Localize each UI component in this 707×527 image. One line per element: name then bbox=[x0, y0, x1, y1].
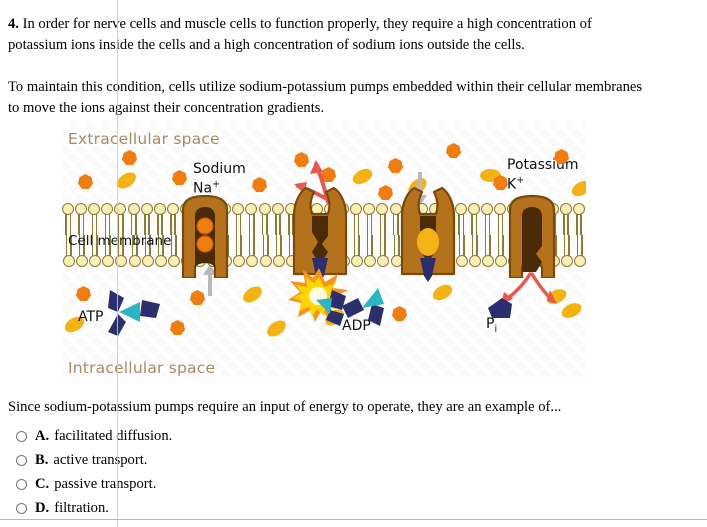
sodium-charge: + bbox=[212, 179, 220, 190]
pump-protein-3 bbox=[398, 186, 458, 282]
adp-label: ADP bbox=[342, 318, 371, 334]
lipid-tail bbox=[472, 235, 474, 256]
lipid-tail bbox=[240, 214, 242, 235]
lipid-tail bbox=[371, 214, 373, 235]
figure-content: Extracellular space Intracellular space … bbox=[62, 122, 586, 380]
lipid-head bbox=[115, 255, 127, 267]
lipid-tail bbox=[253, 214, 255, 235]
sodium-legend-label: Sodium Na+ bbox=[193, 162, 246, 197]
lipid-tail bbox=[354, 214, 356, 235]
lipid-head bbox=[468, 203, 480, 215]
lipid-tail bbox=[580, 214, 582, 235]
phospholipid bbox=[141, 203, 154, 235]
lipid-tail bbox=[581, 235, 583, 256]
lipid-tail bbox=[563, 214, 565, 235]
lipid-tail bbox=[92, 214, 94, 235]
lipid-head bbox=[114, 203, 126, 215]
lipid-head bbox=[272, 203, 284, 215]
atp-label: ATP bbox=[78, 309, 103, 325]
lipid-tail bbox=[384, 214, 386, 235]
lipid-tail bbox=[476, 214, 478, 235]
lipid-tail bbox=[498, 235, 500, 256]
phospholipid bbox=[573, 203, 586, 235]
answer-options: A.facilitated diffusion.B.active transpo… bbox=[8, 424, 508, 520]
stem-paragraph-1-text: In order for nerve cells and muscle cell… bbox=[8, 16, 592, 53]
lipid-tail bbox=[568, 235, 570, 256]
lipid-head bbox=[102, 255, 114, 267]
radio-button[interactable] bbox=[16, 503, 27, 514]
stem-paragraph-1: 4. In order for nerve cells and muscle c… bbox=[8, 14, 652, 56]
potassium-ion bbox=[430, 282, 455, 304]
phospholipid bbox=[114, 203, 127, 235]
lipid-head bbox=[363, 203, 375, 215]
option-letter: B. bbox=[35, 452, 48, 469]
phospholipid bbox=[350, 235, 363, 267]
lipid-head bbox=[232, 203, 244, 215]
lipid-tail bbox=[498, 214, 500, 235]
answer-option-c[interactable]: C.passive transport. bbox=[8, 472, 508, 496]
lipid-tail bbox=[393, 214, 395, 235]
lipid-head bbox=[574, 255, 586, 267]
lipid-head bbox=[482, 255, 494, 267]
phospholipid bbox=[363, 203, 376, 235]
cell-membrane-label: Cell membrane bbox=[68, 233, 171, 249]
lipid-tail bbox=[280, 235, 282, 256]
lipid-head bbox=[377, 255, 389, 267]
lipid-tail bbox=[275, 214, 277, 235]
potassium-ion bbox=[240, 283, 265, 306]
sodium-ion bbox=[378, 185, 393, 200]
lipid-tail bbox=[267, 235, 269, 256]
sodium-ion bbox=[78, 174, 93, 189]
lipid-tail bbox=[249, 214, 251, 235]
lipid-tail bbox=[393, 235, 395, 256]
pump-protein-4 bbox=[504, 194, 560, 278]
phospholipid bbox=[363, 235, 376, 267]
lipid-tail bbox=[262, 214, 264, 235]
option-text: active transport. bbox=[53, 452, 147, 469]
question-stem: 4. In order for nerve cells and muscle c… bbox=[8, 14, 652, 119]
stem-paragraph-2: To maintain this condition, cells utiliz… bbox=[8, 77, 652, 119]
sodium-legend-icon bbox=[172, 170, 187, 185]
phospholipid bbox=[75, 203, 88, 235]
potassium-legend-label: Potassium K+ bbox=[507, 158, 579, 193]
lipid-tail bbox=[489, 235, 491, 256]
phospholipid bbox=[232, 235, 245, 267]
lipid-tail bbox=[144, 214, 146, 235]
lipid-tail bbox=[459, 235, 461, 256]
sodium-ion bbox=[76, 286, 91, 301]
lipid-tail bbox=[148, 214, 150, 235]
pi-subscript: i bbox=[494, 324, 497, 335]
lipid-tail bbox=[476, 235, 478, 256]
lipid-tail bbox=[266, 214, 268, 235]
phospholipid bbox=[376, 203, 389, 235]
radio-button[interactable] bbox=[16, 479, 27, 490]
phospholipid bbox=[468, 203, 481, 235]
lipid-tail bbox=[577, 235, 579, 256]
adp-fragment-icon bbox=[312, 288, 346, 326]
lipid-tail bbox=[471, 214, 473, 235]
option-letter: C. bbox=[35, 476, 49, 493]
phospholipid bbox=[481, 235, 494, 267]
lipid-tail bbox=[576, 214, 578, 235]
lipid-head bbox=[376, 203, 388, 215]
lipid-head bbox=[128, 203, 140, 215]
lipid-tail bbox=[485, 235, 487, 256]
lipid-tail bbox=[109, 214, 111, 235]
lipid-tail bbox=[279, 214, 281, 235]
potassium-ion bbox=[114, 169, 139, 192]
phospholipid bbox=[481, 203, 494, 235]
lipid-tail bbox=[253, 235, 255, 256]
lipid-head bbox=[76, 255, 88, 267]
lipid-tail bbox=[96, 214, 98, 235]
phospholipid bbox=[259, 203, 272, 235]
phospholipid bbox=[259, 235, 272, 267]
lipid-tail bbox=[485, 214, 487, 235]
lipid-tail bbox=[249, 235, 251, 256]
lipid-head bbox=[561, 255, 573, 267]
lipid-tail bbox=[384, 235, 386, 256]
phospholipid bbox=[560, 203, 573, 235]
phospholipid bbox=[154, 203, 167, 235]
option-text: passive transport. bbox=[54, 476, 156, 493]
lipid-tail bbox=[380, 214, 382, 235]
sodium-name: Sodium bbox=[193, 161, 246, 177]
option-text: filtration. bbox=[54, 500, 109, 517]
sodium-ion bbox=[252, 177, 267, 192]
phospholipid bbox=[573, 235, 586, 267]
lipid-tail bbox=[240, 235, 242, 256]
sodium-ion bbox=[170, 320, 185, 335]
lipid-tail bbox=[489, 214, 491, 235]
lipid-tail bbox=[275, 235, 277, 256]
answer-option-d[interactable]: D.filtration. bbox=[8, 496, 508, 520]
lipid-tail bbox=[564, 235, 566, 256]
lipid-tail bbox=[174, 214, 176, 235]
option-letter: D. bbox=[35, 500, 49, 517]
lipid-tail bbox=[262, 235, 264, 256]
option-letter: A. bbox=[35, 428, 49, 445]
lipid-tail bbox=[135, 214, 137, 235]
lipid-head bbox=[101, 203, 113, 215]
radio-button[interactable] bbox=[16, 455, 27, 466]
sodium-ion bbox=[122, 150, 137, 165]
question-page: 4. In order for nerve cells and muscle c… bbox=[0, 0, 707, 527]
phospholipid bbox=[272, 203, 285, 235]
lipid-head bbox=[260, 255, 272, 267]
lipid-head bbox=[245, 203, 257, 215]
lipid-head bbox=[142, 255, 154, 267]
potassium-ion bbox=[264, 317, 289, 340]
lipid-tail bbox=[131, 214, 133, 235]
lipid-tail bbox=[236, 235, 238, 256]
potassium-charge: + bbox=[516, 175, 524, 186]
phospholipid bbox=[376, 235, 389, 267]
page-bottom-rule bbox=[0, 519, 707, 520]
lipid-tail bbox=[118, 214, 120, 235]
potassium-symbol: K bbox=[507, 177, 516, 193]
lipid-head bbox=[350, 203, 362, 215]
lipid-head bbox=[88, 203, 100, 215]
lipid-tail bbox=[367, 235, 369, 256]
lipid-head bbox=[154, 203, 166, 215]
phospholipid bbox=[128, 203, 141, 235]
phospholipid bbox=[232, 203, 245, 235]
answer-prompt: Since sodium-potassium pumps require an … bbox=[8, 399, 561, 416]
lipid-tail bbox=[463, 214, 465, 235]
sodium-ion bbox=[446, 143, 461, 158]
phospholipid bbox=[62, 203, 75, 235]
lipid-tail bbox=[367, 214, 369, 235]
phospholipid bbox=[272, 235, 285, 267]
lipid-tail bbox=[380, 235, 382, 256]
pi-label: Pi bbox=[486, 316, 497, 335]
lipid-tail bbox=[78, 214, 80, 235]
answer-option-b[interactable]: B.active transport. bbox=[8, 448, 508, 472]
lipid-head bbox=[351, 255, 363, 267]
lipid-tail bbox=[105, 214, 107, 235]
answer-option-a[interactable]: A.facilitated diffusion. bbox=[8, 424, 508, 448]
phospholipid bbox=[560, 235, 573, 267]
lipid-head bbox=[62, 203, 74, 215]
lipid-head bbox=[246, 255, 258, 267]
lipid-head bbox=[364, 255, 376, 267]
phospholipid bbox=[245, 235, 258, 267]
sodium-potassium-pump-diagram: Extracellular space Intracellular space … bbox=[62, 122, 586, 380]
lipid-head bbox=[469, 255, 481, 267]
phospholipid bbox=[88, 203, 101, 235]
lipid-tail bbox=[358, 214, 360, 235]
atp-molecule-icon bbox=[106, 288, 162, 336]
lipid-head bbox=[155, 255, 167, 267]
sodium-ion bbox=[388, 158, 403, 173]
lipid-head bbox=[233, 255, 245, 267]
lipid-tail bbox=[567, 214, 569, 235]
intracellular-space-label: Intracellular space bbox=[68, 359, 215, 377]
lipid-head bbox=[141, 203, 153, 215]
lipid-head bbox=[259, 203, 271, 215]
option-text: facilitated diffusion. bbox=[54, 428, 172, 445]
lipid-tail bbox=[170, 214, 172, 235]
lipid-tail bbox=[354, 235, 356, 256]
lipid-tail bbox=[161, 214, 163, 235]
lipid-head bbox=[573, 203, 585, 215]
phospholipid bbox=[468, 235, 481, 267]
phospholipid bbox=[350, 203, 363, 235]
lipid-head bbox=[129, 255, 141, 267]
lipid-tail bbox=[463, 235, 465, 256]
lipid-tail bbox=[458, 214, 460, 235]
radio-button[interactable] bbox=[16, 431, 27, 442]
lipid-head bbox=[75, 203, 87, 215]
pump-protein-1 bbox=[177, 194, 233, 278]
lipid-tail bbox=[70, 214, 72, 235]
lipid-head bbox=[273, 255, 285, 267]
lipid-tail bbox=[371, 235, 373, 256]
lipid-tail bbox=[157, 214, 159, 235]
lipid-tail bbox=[83, 214, 85, 235]
question-number: 4. bbox=[8, 16, 19, 32]
lipid-tail bbox=[236, 214, 238, 235]
lipid-tail bbox=[358, 235, 360, 256]
lipid-head bbox=[481, 203, 493, 215]
lipid-head bbox=[63, 255, 75, 267]
phospholipid bbox=[101, 203, 114, 235]
lipid-tail bbox=[65, 214, 67, 235]
phospholipid bbox=[245, 203, 258, 235]
lipid-head bbox=[560, 203, 572, 215]
lipid-tail bbox=[122, 214, 124, 235]
lipid-head bbox=[89, 255, 101, 267]
extracellular-space-label: Extracellular space bbox=[68, 130, 220, 148]
